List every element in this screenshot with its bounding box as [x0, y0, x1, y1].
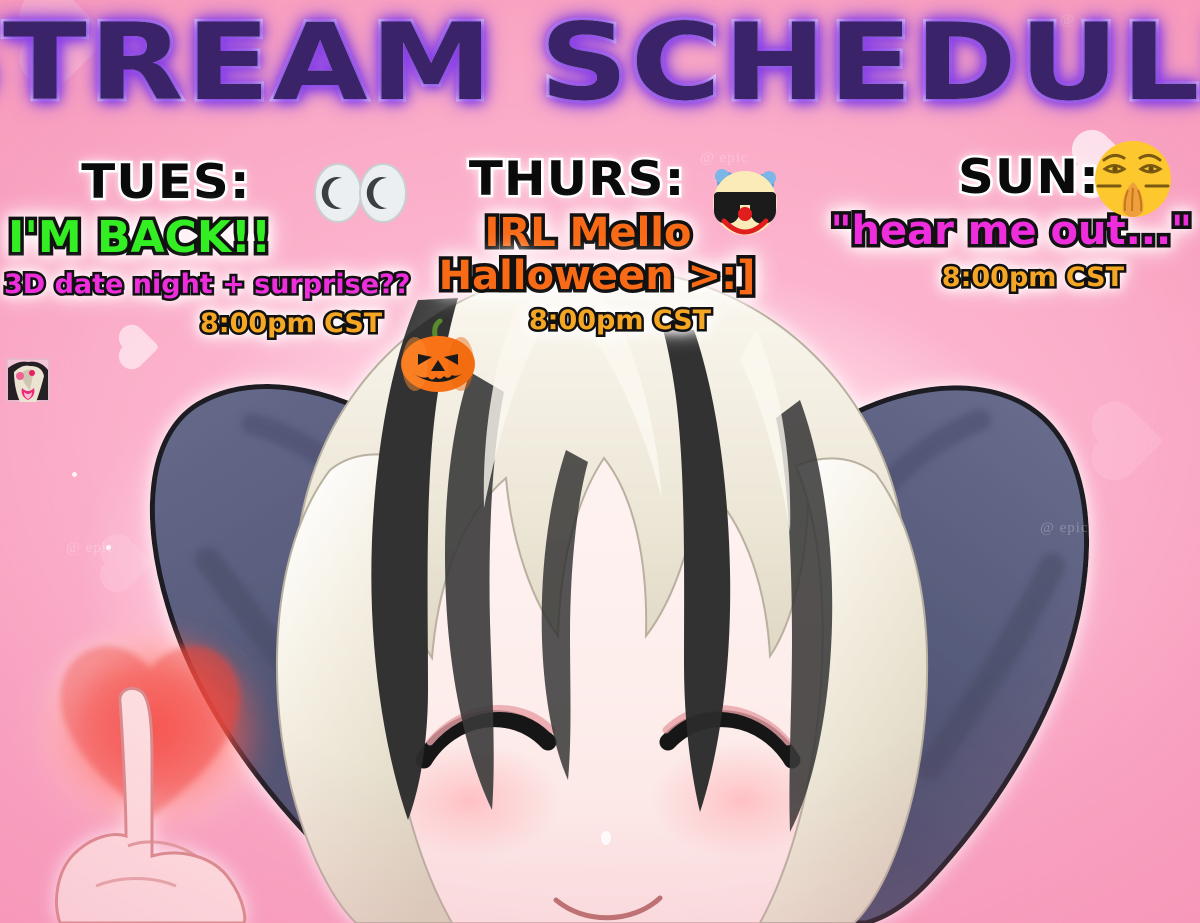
- stream-time-tuesday: 8:00pm CST: [200, 308, 382, 339]
- headline-tuesday: I'M BACK!!: [8, 212, 271, 263]
- day-label-sunday: SUN:: [958, 150, 1100, 205]
- avatar-emote-icon: [6, 358, 50, 402]
- stream-time-thursday: 8:00pm CST: [529, 305, 711, 336]
- subline-row-tuesday: 3D date night + surprise??: [0, 269, 410, 300]
- day-label-thursday: THURS:: [469, 152, 686, 207]
- poster-title-area: STREAM SCHEDULE: [0, 10, 1200, 116]
- background-vignette: [0, 0, 1200, 923]
- eyes-emoji: [312, 162, 408, 224]
- headline-row-thursday-2: Halloween >:]: [400, 256, 800, 297]
- clown-sunglasses-emoji: [700, 162, 778, 240]
- stream-time-sunday: 8:00pm CST: [942, 262, 1124, 293]
- time-row-tuesday: 8:00pm CST: [0, 308, 410, 339]
- subline-tuesday: 3D date night + surprise??: [4, 269, 410, 300]
- headline-thursday-line1: IRL Mello: [485, 210, 692, 256]
- stream-schedule-poster: STREAM SCHEDULE TUES: I'M BACK!! 3D date…: [0, 0, 1200, 923]
- time-row-sunday: 8:00pm CST: [800, 262, 1200, 293]
- page-title: STREAM SCHEDULE: [0, 10, 1200, 116]
- headline-thursday-line2: Halloween >:]: [439, 253, 756, 299]
- day-label-tuesday: TUES:: [81, 155, 251, 210]
- face-with-hand-over-mouth-emoji: [1092, 138, 1174, 220]
- jack-o-lantern-emoji: [398, 318, 478, 392]
